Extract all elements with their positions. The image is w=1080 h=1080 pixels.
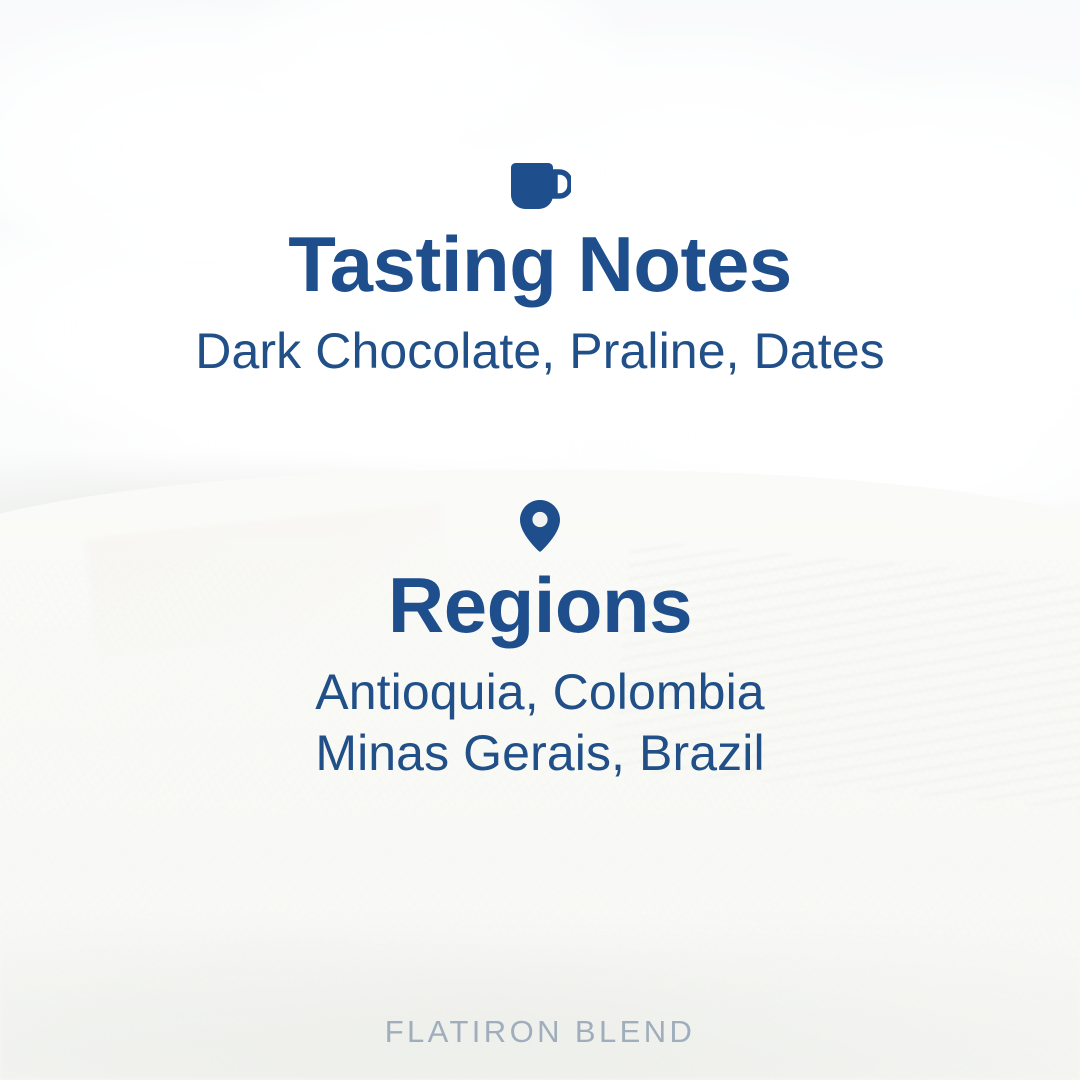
map-pin-icon <box>520 500 560 552</box>
tasting-notes-line: Dark Chocolate, Praline, Dates <box>195 321 884 382</box>
region-line: Minas Gerais, Brazil <box>315 723 764 784</box>
blend-name-footer: FLATIRON BLEND <box>0 1014 1080 1050</box>
card-content: Tasting Notes Dark Chocolate, Praline, D… <box>0 0 1080 1080</box>
section-regions: Regions Antioquia, Colombia Minas Gerais… <box>315 500 764 784</box>
regions-body: Antioquia, Colombia Minas Gerais, Brazil <box>315 662 764 784</box>
region-line: Antioquia, Colombia <box>315 662 764 723</box>
section-tasting-notes: Tasting Notes Dark Chocolate, Praline, D… <box>195 163 884 382</box>
tasting-notes-body: Dark Chocolate, Praline, Dates <box>195 321 884 382</box>
regions-heading: Regions <box>315 566 764 644</box>
tasting-notes-icon-wrap <box>195 163 884 211</box>
regions-icon-wrap <box>315 500 764 552</box>
tasting-notes-heading: Tasting Notes <box>195 225 884 303</box>
product-info-card: Tasting Notes Dark Chocolate, Praline, D… <box>0 0 1080 1080</box>
coffee-mug-icon <box>509 163 571 211</box>
